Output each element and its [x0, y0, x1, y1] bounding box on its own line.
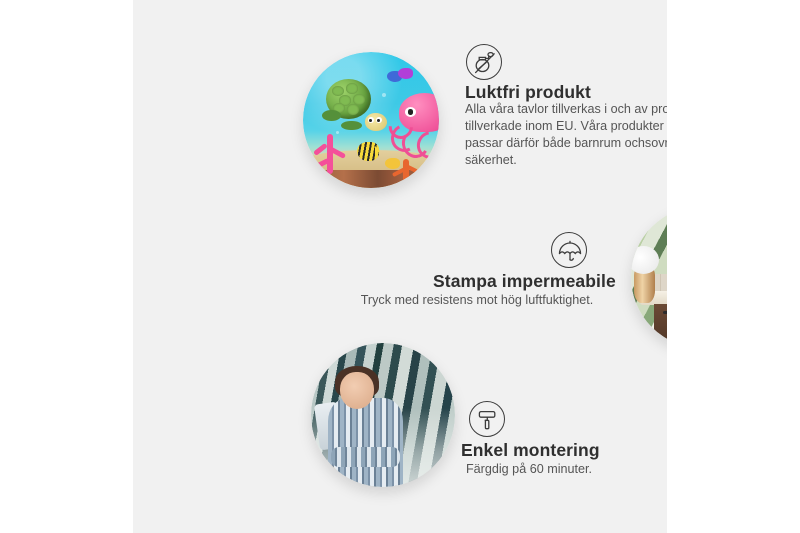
feature-title-odourless: Luktfri produkt [465, 82, 591, 103]
woman-arm [331, 447, 400, 467]
flower-bouquet [631, 246, 659, 274]
bathroom-scene [631, 206, 667, 348]
feature-body-easy-mounting: Färgdig på 60 minuter. [429, 461, 629, 478]
feature-body-waterproof: Tryck med resistens mot hög luftfuktighe… [357, 292, 597, 309]
feature-title-waterproof: Stampa impermeabile [433, 271, 616, 292]
vanity-cabinet [654, 304, 667, 348]
coral-icon [390, 153, 423, 183]
octopus-icon [387, 93, 439, 158]
content-panel: Luktfri produkt Alla våra tavlor tillver… [133, 0, 667, 533]
woman-torso [328, 398, 403, 487]
ocean-scene [303, 52, 439, 188]
turtle-flipper [322, 110, 341, 121]
no-spray-bottle-icon [466, 44, 502, 80]
umbrella-icon [551, 232, 587, 268]
screenshot-root: Luktfri produkt Alla våra tavlor tillver… [0, 0, 800, 533]
feature-body-odourless: Alla våra tavlor tillverkas i och av pro… [465, 101, 667, 169]
coral-icon [310, 128, 351, 174]
turtle-head [365, 113, 388, 131]
feature-image-waterproof [631, 206, 667, 348]
fish-icon [357, 142, 379, 161]
fish-icon [398, 68, 413, 79]
turtle-icon [322, 79, 385, 133]
paint-roller-icon [469, 401, 505, 437]
feature-image-odourless [303, 52, 439, 188]
feature-title-easy-mounting: Enkel montering [461, 440, 600, 461]
